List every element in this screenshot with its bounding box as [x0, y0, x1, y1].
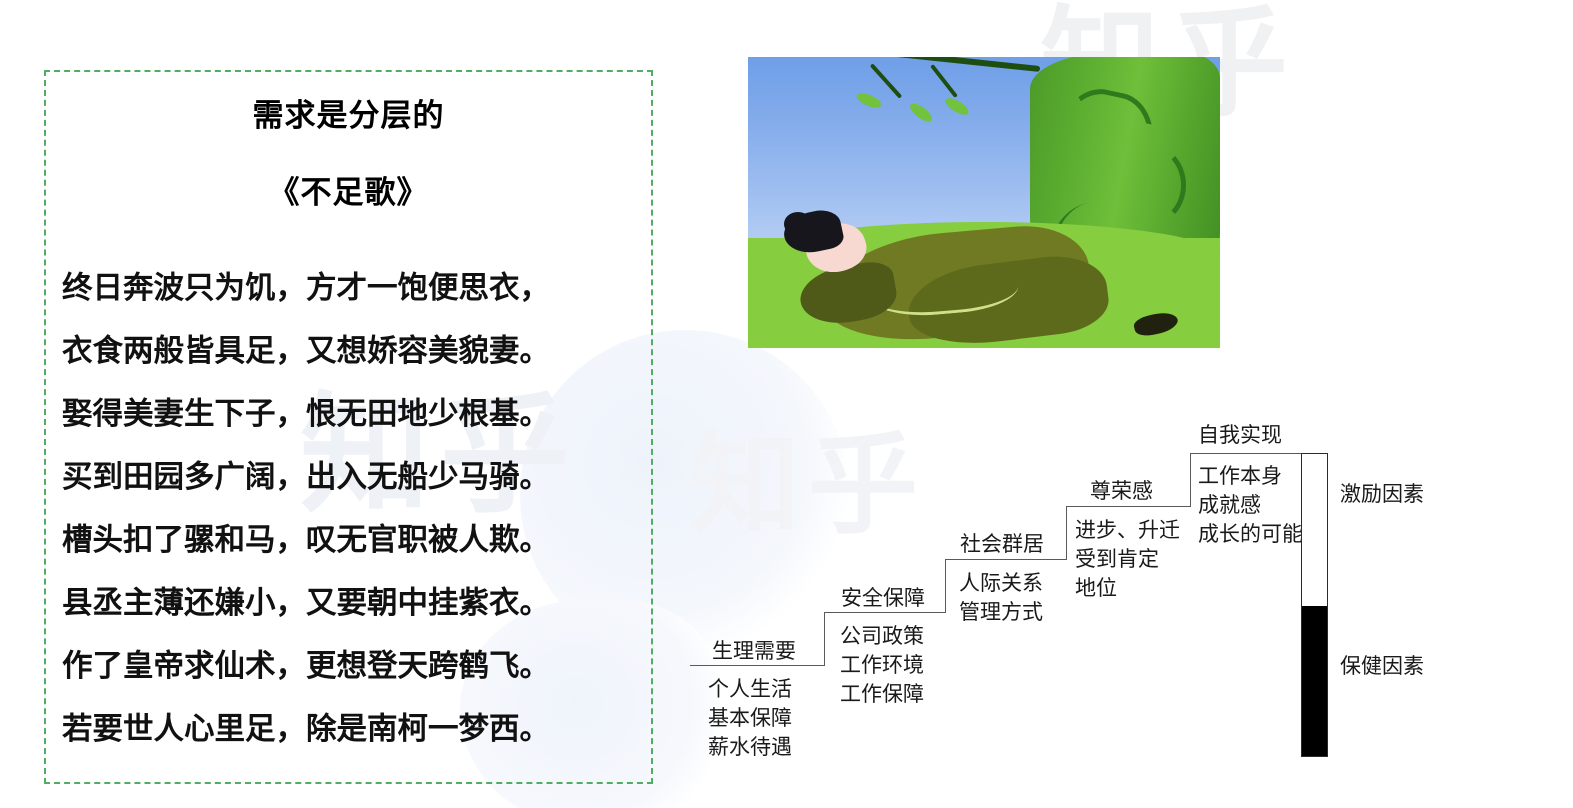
step-1-tread	[690, 665, 825, 666]
step-item: 进步、升迁	[1075, 516, 1180, 545]
poem-line: 终日奔波只为饥，方才一饱便思衣，	[62, 257, 639, 320]
step-4-items: 进步、升迁 受到肯定 地位	[1075, 516, 1180, 603]
step-3-tread	[945, 559, 1067, 560]
step-5-items: 工作本身 成就感 成长的可能	[1198, 462, 1303, 549]
leaf-icon	[855, 90, 883, 112]
poem-body: 终日奔波只为饥，方才一饱便思衣， 衣食两般皆具足，又想娇容美貌妻。 娶得美妻生下…	[62, 257, 639, 761]
trunk-detail	[1058, 82, 1162, 151]
poem-line: 衣食两般皆具足，又想娇容美貌妻。	[62, 320, 639, 383]
hygiene-factor-label: 保健因素	[1340, 650, 1424, 680]
step-item: 成长的可能	[1198, 520, 1303, 549]
step-1-header: 生理需要	[712, 635, 796, 665]
step-1-items: 个人生活 基本保障 薪水待遇	[708, 675, 792, 762]
step-item: 成就感	[1198, 491, 1303, 520]
illustration-image	[748, 57, 1220, 348]
slide-canvas: 知乎 知乎 知乎 需求是分层的 《不足歌》 终日奔波只为饥，方才一饱便思衣， 衣…	[0, 0, 1573, 808]
factor-bar	[1301, 453, 1328, 757]
page-title: 需求是分层的	[46, 90, 651, 135]
motivator-factor-label: 激励因素	[1340, 478, 1424, 508]
step-3-items: 人际关系 管理方式	[959, 569, 1043, 627]
step-3-header: 社会群居	[960, 528, 1044, 558]
poem-line: 买到田园多广阔，出入无船少马骑。	[62, 446, 639, 509]
tree-twig	[930, 64, 958, 98]
step-1-riser	[824, 613, 825, 666]
step-4-header: 尊荣感	[1090, 475, 1153, 505]
factor-bar-hygiene-fill	[1302, 606, 1327, 756]
step-item: 受到肯定	[1075, 545, 1180, 574]
step-5-header: 自我实现	[1198, 419, 1282, 449]
step-2-items: 公司政策 工作环境 工作保障	[840, 622, 924, 709]
step-item: 个人生活	[708, 675, 792, 704]
step-item: 工作本身	[1198, 462, 1303, 491]
poem-panel: 需求是分层的 《不足歌》 终日奔波只为饥，方才一饱便思衣， 衣食两般皆具足，又想…	[44, 70, 653, 784]
leaf-icon	[908, 100, 935, 126]
step-item: 工作环境	[840, 651, 924, 680]
step-4-tread	[1066, 506, 1191, 507]
figure-hair-bun	[784, 212, 812, 236]
step-2-riser	[945, 560, 946, 613]
step-5-tread	[1190, 453, 1302, 454]
poem-line: 娶得美妻生下子，恨无田地少根基。	[62, 383, 639, 446]
poem-line: 槽头扣了骡和马，叹无官职被人欺。	[62, 509, 639, 572]
step-item: 公司政策	[840, 622, 924, 651]
step-item: 薪水待遇	[708, 733, 792, 762]
poem-subtitle: 《不足歌》	[46, 167, 651, 212]
needs-staircase-diagram: 生理需要 个人生活 基本保障 薪水待遇 安全保障 公司政策 工作环境 工作保障 …	[690, 400, 1450, 800]
poem-line: 若要世人心里足，除是南柯一梦西。	[62, 698, 639, 761]
step-item: 基本保障	[708, 704, 792, 733]
step-item: 工作保障	[840, 680, 924, 709]
step-4-riser	[1190, 453, 1191, 507]
step-3-riser	[1066, 507, 1067, 560]
poem-line: 作了皇帝求仙术，更想登天跨鹤飞。	[62, 635, 639, 698]
poem-line: 县丞主薄还嫌小，又要朝中挂紫衣。	[62, 572, 639, 635]
step-item: 管理方式	[959, 598, 1043, 627]
step-2-tread	[824, 612, 946, 613]
step-item: 人际关系	[959, 569, 1043, 598]
step-2-header: 安全保障	[841, 582, 925, 612]
tree-twig	[870, 63, 902, 98]
trunk-detail	[1116, 145, 1186, 225]
step-item: 地位	[1075, 574, 1180, 603]
leaf-icon	[943, 94, 971, 118]
